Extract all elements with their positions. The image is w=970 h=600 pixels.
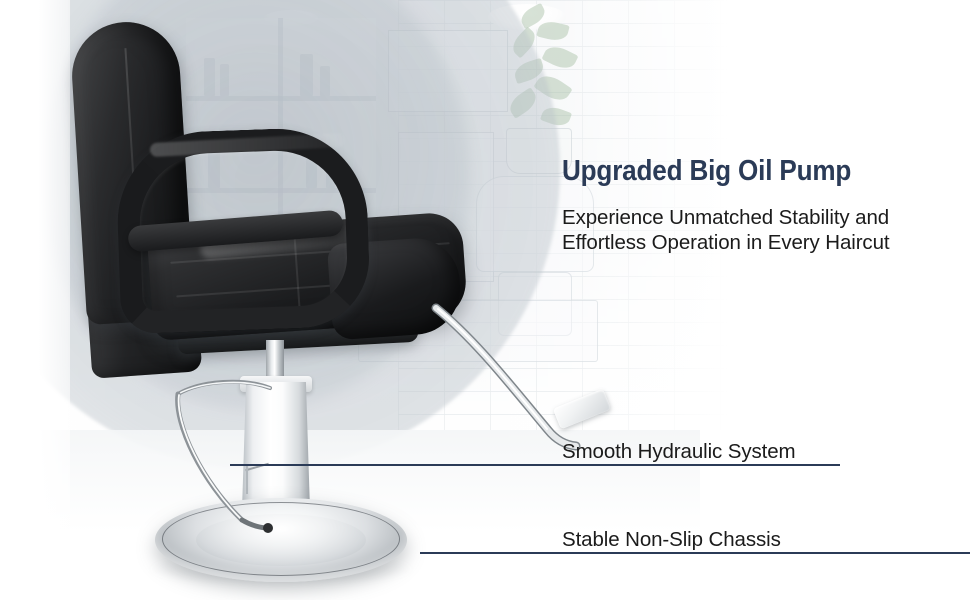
subheadline-text: Experience Unmatched Stability and Effor… (562, 205, 962, 255)
callout-leader-line-hydraulic-system (230, 464, 840, 466)
callout-leader-line-non-slip-chassis (420, 552, 970, 554)
chair-backrest-seam (29, 30, 45, 270)
product-banner: Upgraded Big Oil Pump Experience Unmatch… (0, 0, 970, 600)
salon-chair-product-image (0, 0, 620, 600)
callout-label-non-slip-chassis: Stable Non-Slip Chassis (562, 528, 781, 552)
page-title: Upgraded Big Oil Pump (562, 157, 851, 186)
callout-label-hydraulic-system: Smooth Hydraulic System (562, 440, 796, 464)
hydraulic-pump-lever (172, 378, 284, 528)
